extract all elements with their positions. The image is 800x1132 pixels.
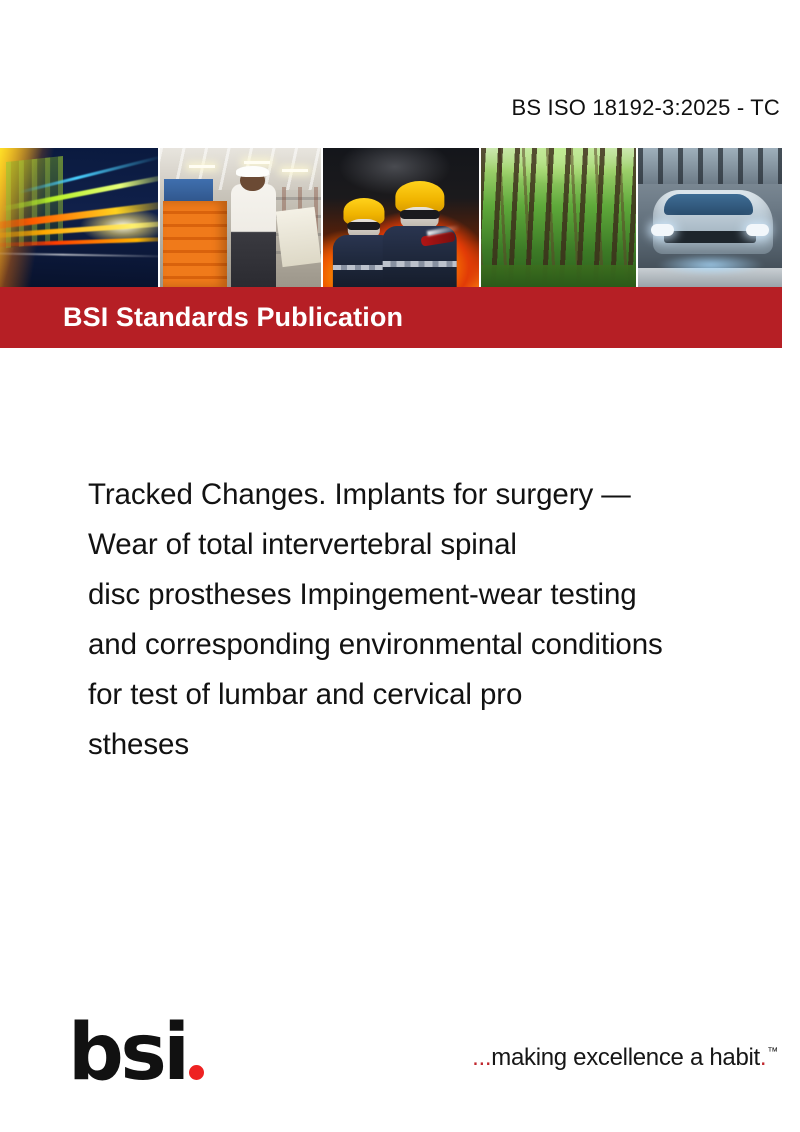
ceiling-lamp — [189, 165, 215, 168]
tagline-text: making excellence a habit — [491, 1044, 760, 1072]
forest-floor — [481, 265, 637, 287]
photo-car-assembly-line — [638, 148, 782, 287]
tagline-ellipsis: ... — [472, 1044, 491, 1072]
red-banner-bar: BSI Standards Publication — [0, 287, 782, 348]
visor — [399, 210, 439, 220]
grille — [664, 231, 756, 242]
headlight-glow — [656, 254, 765, 276]
firefighter-front — [382, 181, 457, 287]
headlight-left — [651, 224, 674, 235]
bsi-logo-dot — [189, 1065, 204, 1080]
trademark-icon: ™ — [767, 1046, 778, 1058]
headlight-right — [746, 224, 769, 235]
light-streak — [0, 252, 158, 257]
ceiling-lamp — [282, 169, 308, 172]
photo-strip — [0, 148, 782, 287]
banner-title: BSI Standards Publication — [63, 287, 403, 348]
title-line-5: for test of lumbar and cervical pro — [88, 670, 768, 720]
tagline-period: . — [760, 1044, 766, 1072]
title-line-4: and corresponding environmental conditio… — [88, 620, 768, 670]
title-line-2: Wear of total intervertebral spinal — [88, 520, 768, 570]
orange-crate — [163, 201, 228, 287]
visor — [347, 222, 381, 230]
windshield — [664, 194, 753, 215]
photo-firefighters — [323, 148, 479, 287]
title-line-3: disc prostheses Impingement-wear testing — [88, 570, 768, 620]
overhead-rig — [638, 148, 782, 184]
page-title: Tracked Changes. Implants for surgery — … — [88, 470, 768, 770]
ceiling-lamp — [244, 161, 270, 164]
bsi-logo-text: bsi — [68, 1023, 187, 1084]
cover-banner: BSI Standards Publication — [0, 148, 782, 348]
photo-traffic-light-trails — [0, 148, 158, 287]
worker-cap — [236, 166, 270, 177]
tagline: ...making excellence a habit.™ — [472, 1044, 778, 1072]
photo-warehouse-worker — [160, 148, 322, 287]
bsi-logo: bsi — [68, 1023, 204, 1084]
carton-box — [276, 207, 321, 267]
title-line-6: stheses — [88, 720, 768, 770]
photo-forest — [481, 148, 637, 287]
document-reference: BS ISO 18192-3:2025 - TC — [511, 95, 780, 121]
reflective-stripe — [382, 261, 457, 267]
title-line-1: Tracked Changes. Implants for surgery — — [88, 470, 768, 520]
worker-body — [231, 184, 276, 287]
